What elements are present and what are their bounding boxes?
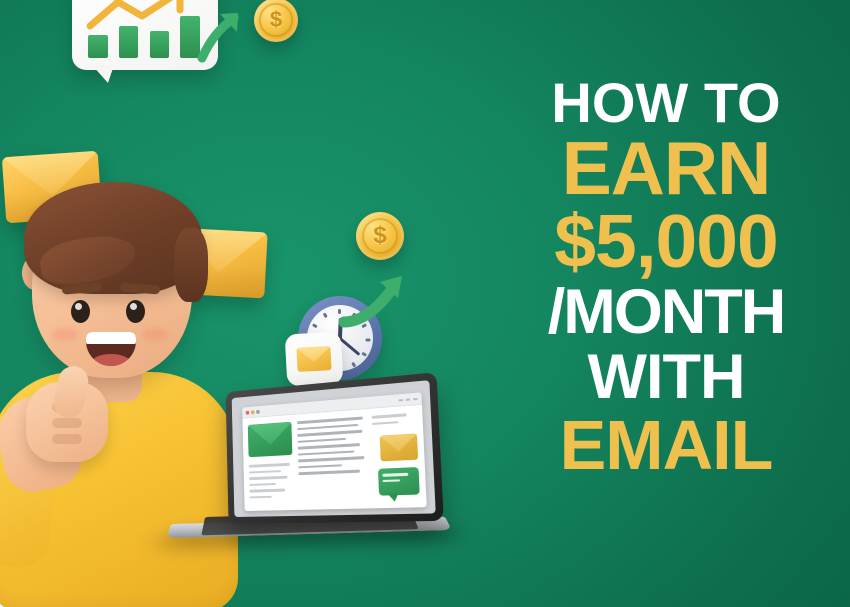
poster-canvas: $ <box>0 0 850 607</box>
laptop <box>170 382 450 592</box>
window-control-icon[interactable] <box>398 399 402 401</box>
laptop-lid <box>226 372 444 524</box>
browser-content <box>243 405 427 511</box>
text-lines <box>372 413 416 429</box>
content-column-right <box>372 413 420 501</box>
text-lines <box>297 417 368 475</box>
green-envelope-icon <box>248 422 293 457</box>
chat-bubble-icon <box>378 467 419 496</box>
laptop-screen <box>232 380 436 517</box>
text-lines <box>249 463 294 499</box>
character-cheek <box>142 328 168 341</box>
headline-block: HOW TO EARN $5,000 /MONTH WITH EMAIL <box>492 76 840 480</box>
content-column-middle <box>297 417 369 503</box>
headline-line-6: EMAIL <box>492 412 840 480</box>
yellow-envelope-icon <box>380 434 418 462</box>
coin-dollar-icon: $ <box>356 212 404 260</box>
headline-line-2: EARN <box>492 132 840 205</box>
clock-minute-hand <box>339 337 361 356</box>
headline-line-1: HOW TO <box>492 76 840 130</box>
content-column-left <box>248 422 294 504</box>
envelope-icon <box>296 346 332 372</box>
browser-window <box>243 393 427 511</box>
arrow-curved-up-icon <box>340 268 412 330</box>
bar-chart-icon <box>88 14 200 58</box>
headline-line-3: $5,000 <box>492 205 840 278</box>
character-mouth <box>86 332 136 366</box>
arrow-up-icon <box>196 8 242 64</box>
character-cheek <box>52 328 78 341</box>
window-control-icon[interactable] <box>406 399 410 401</box>
coin-dollar-icon: $ <box>254 0 298 42</box>
headline-line-4: /MONTH <box>492 282 840 343</box>
character-hair <box>24 182 202 294</box>
bubble-tail <box>92 65 114 83</box>
close-icon[interactable] <box>246 411 249 415</box>
window-control-icon[interactable] <box>413 398 417 400</box>
character-eye <box>71 300 90 323</box>
headline-line-5: WITH <box>492 347 840 408</box>
character-eye <box>126 300 145 323</box>
maximize-icon[interactable] <box>257 410 260 414</box>
coin-ring <box>362 218 399 255</box>
minimize-icon[interactable] <box>251 410 254 414</box>
coin-ring <box>259 3 292 36</box>
